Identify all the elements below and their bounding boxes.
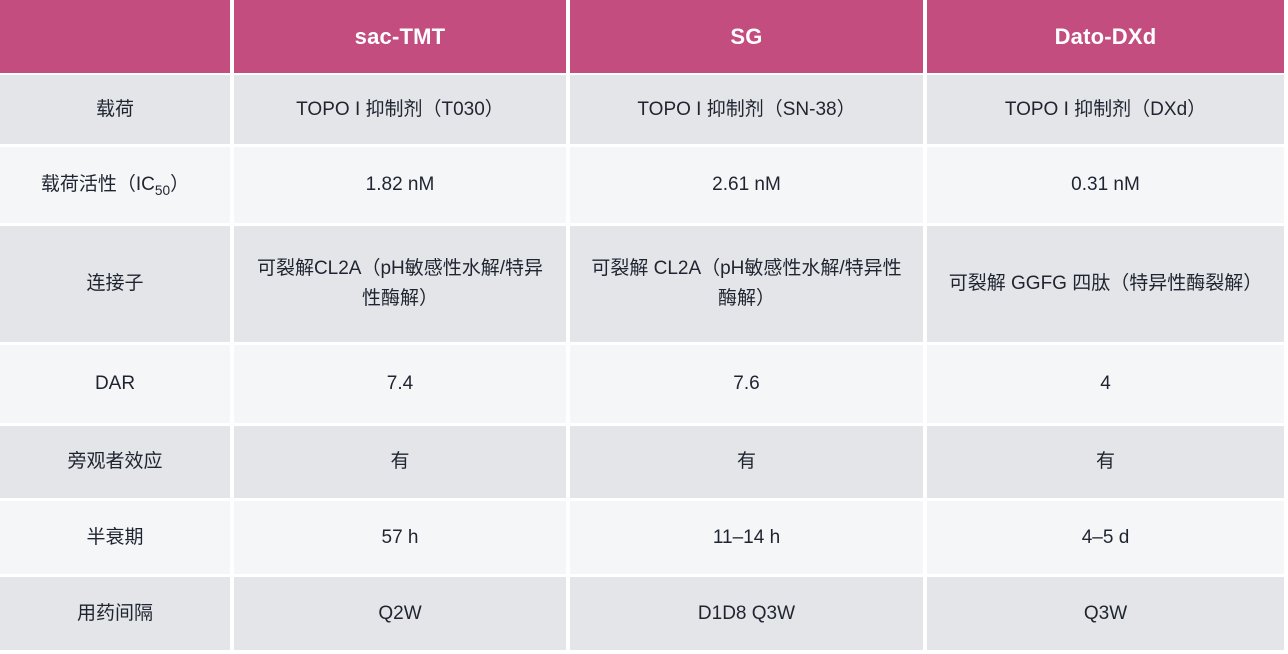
row-label-half-life: 半衰期 [0,501,234,577]
table-body: 载荷 TOPO I 抑制剂（T030） TOPO I 抑制剂（SN-38） TO… [0,75,1284,650]
cell-linker-dato-dxd: 可裂解 GGFG 四肽（特异性酶裂解） [927,226,1284,345]
cell-payload-dato-dxd: TOPO I 抑制剂（DXd） [927,75,1284,147]
header-cell-corner [0,0,234,75]
cell-half-life-sg: 11–14 h [570,501,927,577]
cell-linker-sg: 可裂解 CL2A（pH敏感性水解/特异性酶解） [570,226,927,345]
row-label-dosing-interval: 用药间隔 [0,577,234,650]
table-row-dar: DAR 7.4 7.6 4 [0,345,1284,426]
table-row-payload: 载荷 TOPO I 抑制剂（T030） TOPO I 抑制剂（SN-38） TO… [0,75,1284,147]
cell-bystander-sac-tmt: 有 [234,426,570,502]
cell-activity-sac-tmt: 1.82 nM [234,147,570,226]
cell-dosing-interval-sg: D1D8 Q3W [570,577,927,650]
cell-bystander-dato-dxd: 有 [927,426,1284,502]
adc-comparison-table: sac-TMT SG Dato-DXd 载荷 TOPO I 抑制剂（T030） … [0,0,1284,650]
comparison-table-container: sac-TMT SG Dato-DXd 载荷 TOPO I 抑制剂（T030） … [0,0,1288,654]
row-label-dar: DAR [0,345,234,426]
table-row-dosing-interval: 用药间隔 Q2W D1D8 Q3W Q3W [0,577,1284,650]
header-cell-sg: SG [570,0,927,75]
cell-half-life-dato-dxd: 4–5 d [927,501,1284,577]
cell-dar-dato-dxd: 4 [927,345,1284,426]
header-row: sac-TMT SG Dato-DXd [0,0,1284,75]
cell-dosing-interval-sac-tmt: Q2W [234,577,570,650]
row-label-payload-activity-suffix: ） [170,174,189,195]
header-cell-dato-dxd: Dato-DXd [927,0,1284,75]
table-header: sac-TMT SG Dato-DXd [0,0,1284,75]
row-label-payload: 载荷 [0,75,234,147]
table-row-bystander-effect: 旁观者效应 有 有 有 [0,426,1284,502]
table-row-payload-activity: 载荷活性（IC50） 1.82 nM 2.61 nM 0.31 nM [0,147,1284,226]
row-label-payload-activity: 载荷活性（IC50） [0,147,234,226]
table-row-half-life: 半衰期 57 h 11–14 h 4–5 d [0,501,1284,577]
cell-payload-sac-tmt: TOPO I 抑制剂（T030） [234,75,570,147]
header-cell-sac-tmt: sac-TMT [234,0,570,75]
row-label-bystander-effect: 旁观者效应 [0,426,234,502]
cell-dosing-interval-dato-dxd: Q3W [927,577,1284,650]
cell-dar-sac-tmt: 7.4 [234,345,570,426]
cell-bystander-sg: 有 [570,426,927,502]
cell-activity-dato-dxd: 0.31 nM [927,147,1284,226]
table-row-linker: 连接子 可裂解CL2A（pH敏感性水解/特异性酶解） 可裂解 CL2A（pH敏感… [0,226,1284,345]
cell-payload-sg: TOPO I 抑制剂（SN-38） [570,75,927,147]
cell-activity-sg: 2.61 nM [570,147,927,226]
row-label-payload-activity-prefix: 载荷活性（IC [41,174,155,195]
row-label-linker: 连接子 [0,226,234,345]
row-label-payload-activity-subscript: 50 [155,183,170,198]
cell-dar-sg: 7.6 [570,345,927,426]
cell-half-life-sac-tmt: 57 h [234,501,570,577]
cell-linker-sac-tmt: 可裂解CL2A（pH敏感性水解/特异性酶解） [234,226,570,345]
